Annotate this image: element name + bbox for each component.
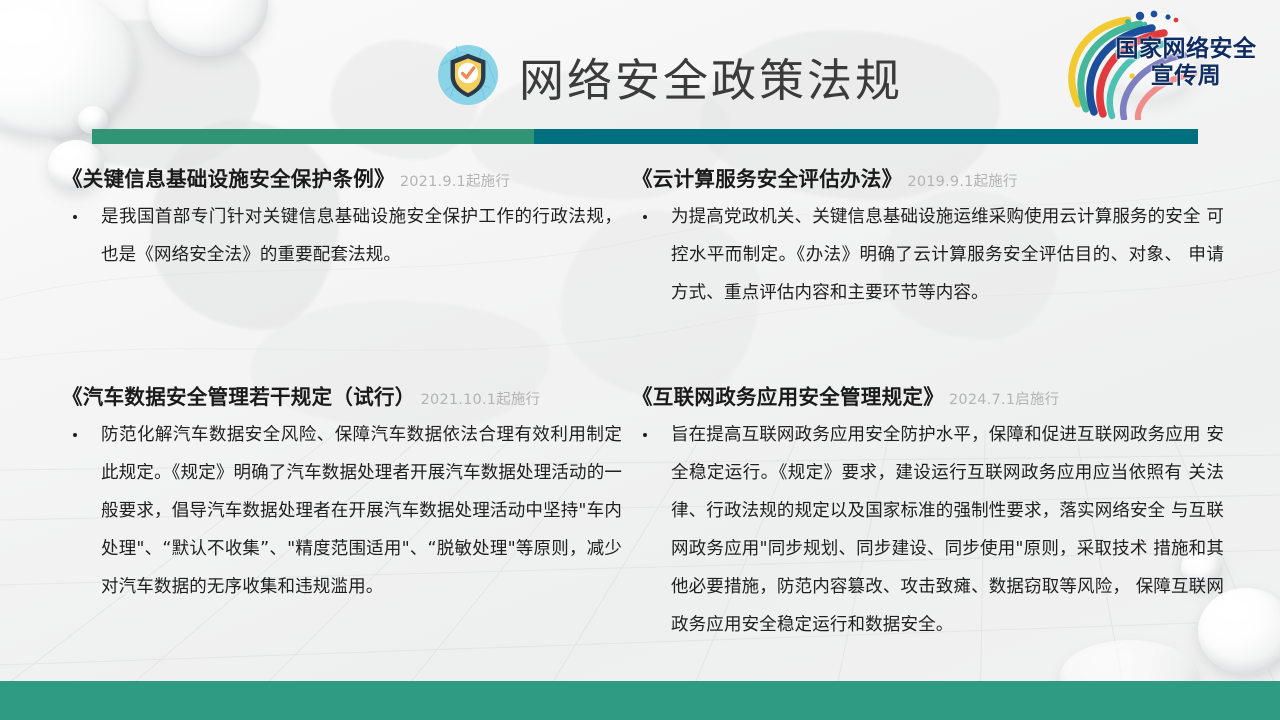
rainbow-arcs-logo: 国家网络安全 宣传周	[1048, 8, 1274, 120]
policy-effective-date: 2019.9.1起施行	[907, 174, 1017, 190]
bullet-icon	[73, 433, 77, 437]
policy-card-header: 《关键信息基础设施安全保护条例》2021.9.1起施行	[62, 162, 622, 192]
policy-description-text: 防范化解汽车数据安全风险、保障汽车数据依法合理有效利用制定此规定。《规定》明确了…	[101, 425, 622, 597]
policy-card: 《汽车数据安全管理若干规定（试行）2021.10.1起施行 防范化解汽车数据安全…	[62, 380, 622, 606]
policy-title: 《互联网政务应用安全管理规定》	[632, 385, 944, 409]
policy-effective-date: 2024.7.1启施行	[949, 392, 1059, 408]
policy-effective-date: 2021.10.1起施行	[421, 392, 541, 408]
policy-description-text: 为提高党政机关、关键信息基础设施运维采购使用云计算服务的安全 可控水平而制定。《…	[671, 207, 1224, 303]
policy-card-header: 《云计算服务安全评估办法》2019.9.1起施行	[632, 162, 1224, 192]
bullet-icon	[643, 215, 647, 219]
policy-description: 为提高党政机关、关键信息基础设施运维采购使用云计算服务的安全 可控水平而制定。《…	[632, 198, 1224, 312]
policy-card-header: 《互联网政务应用安全管理规定》2024.7.1启施行	[632, 380, 1224, 410]
accent-bar-teal	[534, 129, 1198, 144]
policy-description: 旨在提高互联网政务应用安全防护水平，保障和促进互联网政务应用 安全稳定运行。《规…	[632, 416, 1224, 644]
policy-description-text: 是我国首部专门针对关键信息基础设施安全保护工作的行政法规，也是《网络安全法》的重…	[101, 207, 622, 265]
policy-card-header: 《汽车数据安全管理若干规定（试行）2021.10.1起施行	[62, 380, 622, 410]
policy-title: 《关键信息基础设施安全保护条例》	[62, 167, 395, 191]
policy-title: 《汽车数据安全管理若干规定（试行）	[62, 385, 416, 409]
footer-bar	[0, 681, 1280, 720]
policy-description: 是我国首部专门针对关键信息基础设施安全保护工作的行政法规，也是《网络安全法》的重…	[62, 198, 622, 274]
policy-card: 《互联网政务应用安全管理规定》2024.7.1启施行 旨在提高互联网政务应用安全…	[632, 380, 1224, 644]
content-area: 《关键信息基础设施安全保护条例》2021.9.1起施行 是我国首部专门针对关键信…	[0, 152, 1280, 672]
slide-header: 网络安全政策法规	[0, 0, 1280, 126]
logo-text-line1: 国家网络安全	[1106, 36, 1266, 63]
page-title: 网络安全政策法规	[519, 44, 903, 109]
policy-card: 《云计算服务安全评估办法》2019.9.1起施行 为提高党政机关、关键信息基础设…	[632, 162, 1224, 312]
policy-description-text: 旨在提高互联网政务应用安全防护水平，保障和促进互联网政务应用 安全稳定运行。《规…	[671, 425, 1224, 635]
logo-text-line2: 宣传周	[1106, 63, 1266, 90]
accent-bar-green	[92, 129, 534, 144]
policy-description: 防范化解汽车数据安全风险、保障汽车数据依法合理有效利用制定此规定。《规定》明确了…	[62, 416, 622, 606]
accent-divider-bar	[92, 129, 1198, 144]
bullet-icon	[73, 215, 77, 219]
policy-title: 《云计算服务安全评估办法》	[632, 167, 902, 191]
bullet-icon	[643, 433, 647, 437]
slide-root: 网络安全政策法规	[0, 0, 1280, 720]
policy-card: 《关键信息基础设施安全保护条例》2021.9.1起施行 是我国首部专门针对关键信…	[62, 162, 622, 274]
logo-text: 国家网络安全 宣传周	[1106, 36, 1266, 90]
shield-check-icon	[437, 44, 499, 106]
policy-effective-date: 2021.9.1起施行	[400, 174, 510, 190]
